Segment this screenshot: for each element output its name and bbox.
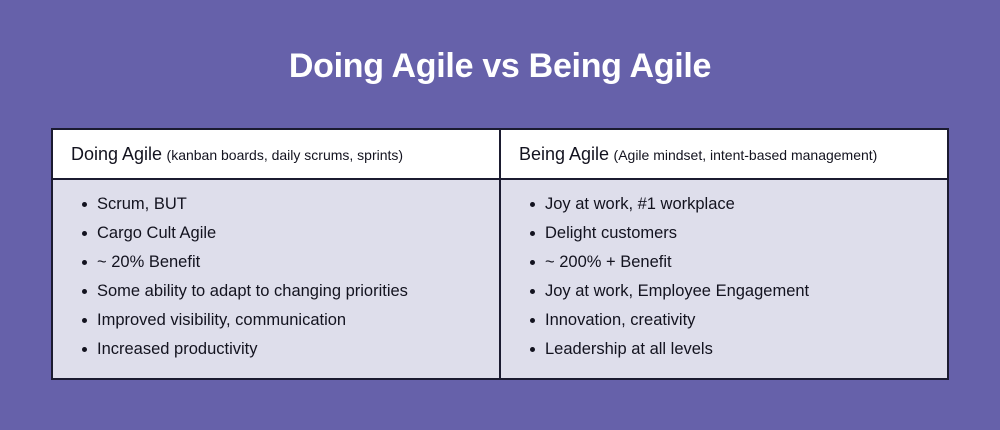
- list-item: ~ 20% Benefit: [97, 248, 481, 277]
- bullet-list-doing-agile: Scrum, BUT Cargo Cult Agile ~ 20% Benefi…: [71, 190, 481, 364]
- page-title: Doing Agile vs Being Agile: [0, 48, 1000, 85]
- comparison-table: Doing Agile (kanban boards, daily scrums…: [51, 128, 949, 380]
- list-item: Innovation, creativity: [545, 306, 929, 335]
- list-item: Leadership at all levels: [545, 335, 929, 364]
- list-item: ~ 200% + Benefit: [545, 248, 929, 277]
- list-item: Improved visibility, communication: [97, 306, 481, 335]
- slide-canvas: Doing Agile vs Being Agile Doing Agile (…: [0, 0, 1000, 430]
- list-item: Joy at work, Employee Engagement: [545, 277, 929, 306]
- column-label-doing-agile: Doing Agile: [71, 144, 162, 164]
- table-cell-doing-agile: Scrum, BUT Cargo Cult Agile ~ 20% Benefi…: [52, 179, 500, 379]
- table-header-cell-being-agile: Being Agile (Agile mindset, intent-based…: [500, 129, 948, 179]
- list-item: Delight customers: [545, 219, 929, 248]
- list-item: Joy at work, #1 workplace: [545, 190, 929, 219]
- list-item: Cargo Cult Agile: [97, 219, 481, 248]
- column-note-doing-agile: (kanban boards, daily scrums, sprints): [167, 147, 404, 163]
- list-item: Some ability to adapt to changing priori…: [97, 277, 481, 306]
- table-header-row: Doing Agile (kanban boards, daily scrums…: [52, 129, 948, 179]
- bullet-list-being-agile: Joy at work, #1 workplace Delight custom…: [519, 190, 929, 364]
- list-item: Increased productivity: [97, 335, 481, 364]
- table-cell-being-agile: Joy at work, #1 workplace Delight custom…: [500, 179, 948, 379]
- table-body: Scrum, BUT Cargo Cult Agile ~ 20% Benefi…: [52, 179, 948, 379]
- table-header-cell-doing-agile: Doing Agile (kanban boards, daily scrums…: [52, 129, 500, 179]
- column-label-being-agile: Being Agile: [519, 144, 609, 164]
- column-note-being-agile: (Agile mindset, intent-based management): [614, 147, 878, 163]
- table-row: Scrum, BUT Cargo Cult Agile ~ 20% Benefi…: [52, 179, 948, 379]
- table-header: Doing Agile (kanban boards, daily scrums…: [52, 129, 948, 179]
- list-item: Scrum, BUT: [97, 190, 481, 219]
